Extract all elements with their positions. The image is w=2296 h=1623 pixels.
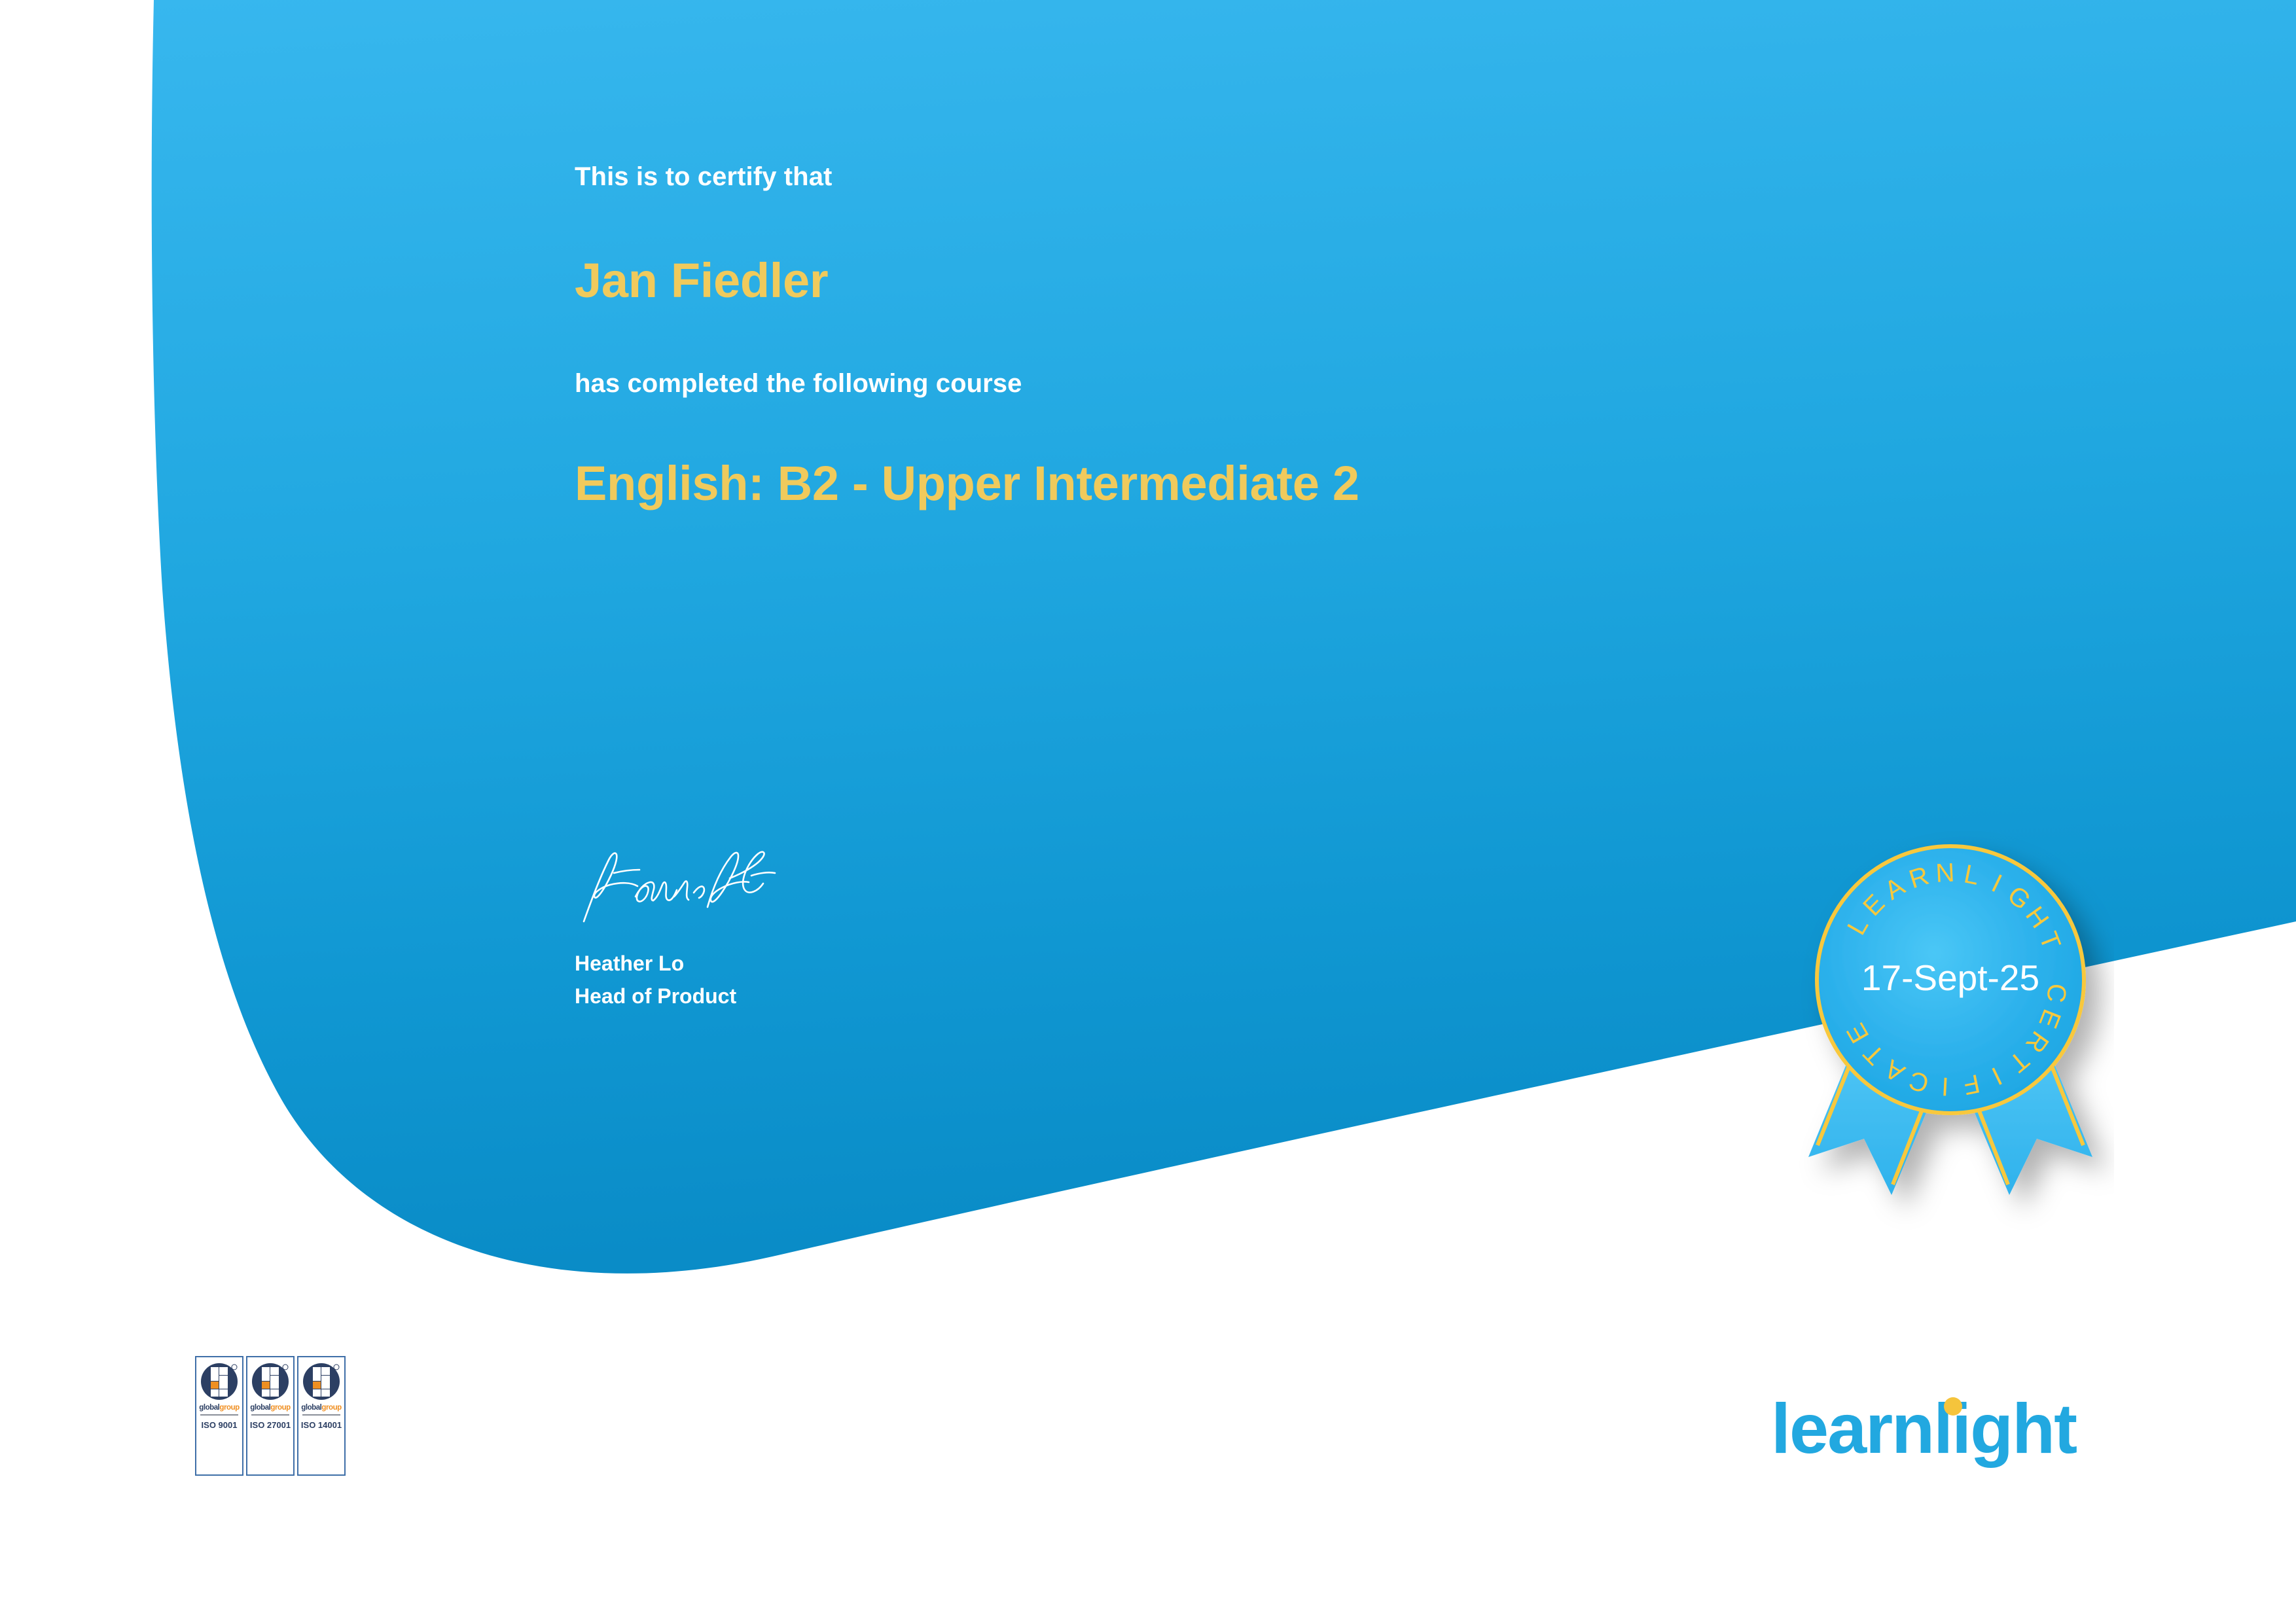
svg-text:I: I bbox=[1941, 1072, 1949, 1101]
globalgroup-logo-icon bbox=[200, 1362, 239, 1401]
recipient-name: Jan Fiedler bbox=[575, 255, 1884, 306]
handwritten-signature-icon bbox=[575, 844, 791, 929]
brand-wordmark: learnlight bbox=[1771, 1389, 2077, 1468]
iso-standard: ISO 14001 bbox=[301, 1420, 342, 1430]
learnlight-logo: learnlight bbox=[1771, 1387, 2079, 1472]
issuer-wordmark: globalgroup bbox=[199, 1404, 240, 1412]
logo-dot-icon bbox=[1944, 1397, 1962, 1416]
divider bbox=[200, 1414, 238, 1416]
globalgroup-logo-icon bbox=[302, 1362, 341, 1401]
completion-line: has completed the following course bbox=[575, 369, 1884, 398]
course-title: English: B2 - Upper Intermediate 2 bbox=[575, 458, 1884, 509]
certificate-seal: LEARNLIGHTCERTIFICATE 17-Sept-25 bbox=[1787, 831, 2114, 1237]
certificate-text-block: This is to certify that Jan Fiedler has … bbox=[575, 162, 1884, 508]
issuer-wordmark: globalgroup bbox=[250, 1404, 291, 1412]
signer-name: Heather Lo bbox=[575, 948, 791, 980]
divider bbox=[302, 1414, 340, 1416]
seal-date: 17-Sept-25 bbox=[1861, 957, 2039, 998]
signature-block: Heather Lo Head of Product bbox=[575, 844, 791, 1012]
svg-text:C: C bbox=[2041, 982, 2072, 1004]
iso-badge: globalgroup ISO 14001 bbox=[297, 1356, 346, 1476]
signer-title: Head of Product bbox=[575, 980, 791, 1013]
signer-info: Heather Lo Head of Product bbox=[575, 948, 791, 1012]
iso-standard: ISO 27001 bbox=[250, 1420, 291, 1430]
iso-badge: globalgroup ISO 9001 bbox=[195, 1356, 243, 1476]
issuer-wordmark: globalgroup bbox=[301, 1404, 342, 1412]
iso-badge: globalgroup ISO 27001 bbox=[246, 1356, 295, 1476]
accreditation-badges: globalgroup ISO 9001 globalgroup ISO 270… bbox=[195, 1356, 346, 1476]
svg-text:N: N bbox=[1935, 859, 1955, 888]
globalgroup-logo-icon bbox=[251, 1362, 290, 1401]
divider bbox=[251, 1414, 289, 1416]
iso-standard: ISO 9001 bbox=[202, 1420, 238, 1430]
intro-line: This is to certify that bbox=[575, 162, 1884, 191]
